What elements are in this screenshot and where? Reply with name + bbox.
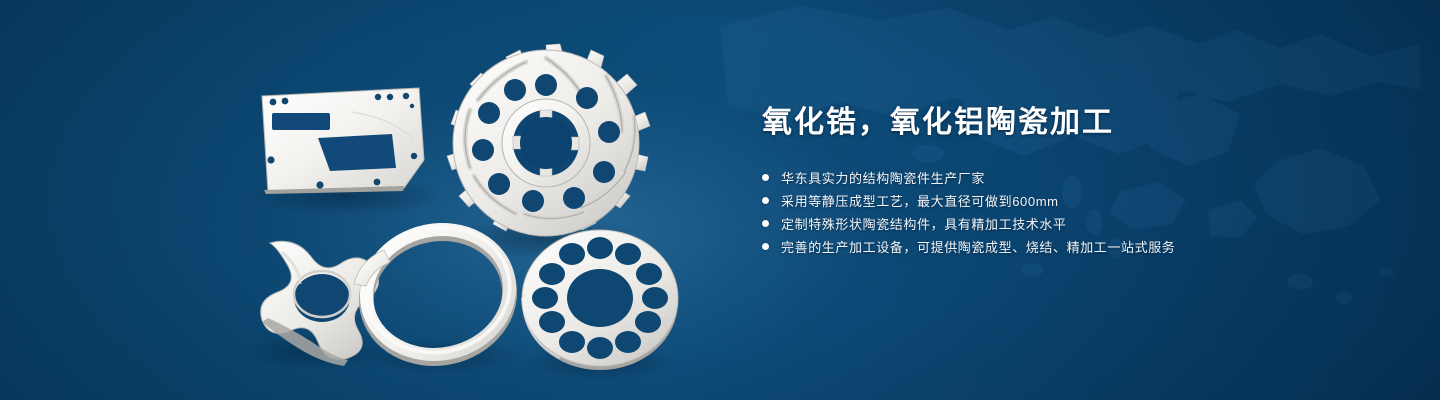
feature-text: 采用等静压成型工艺，最大直径可做到600mm xyxy=(781,191,1059,210)
ceramic-perforated-disc xyxy=(522,230,678,370)
banner-headline: 氧化锆，氧化铝陶瓷加工 xyxy=(762,104,1402,142)
feature-text: 定制特殊形状陶瓷结构件，具有精加工技术水平 xyxy=(781,214,1067,233)
bullet-dot-icon xyxy=(762,220,769,227)
banner-copy: 氧化锆，氧化铝陶瓷加工 华东具实力的结构陶瓷件生产厂家 采用等静压成型工艺，最大… xyxy=(762,104,1402,258)
list-item: 定制特殊形状陶瓷结构件，具有精加工技术水平 xyxy=(762,212,1402,235)
bullet-dot-icon xyxy=(762,197,769,204)
feature-text: 完善的生产加工设备，可提供陶瓷成型、烧结、精加工一站式服务 xyxy=(781,237,1175,256)
ceramic-products-image xyxy=(0,0,740,400)
list-item: 采用等静压成型工艺，最大直径可做到600mm xyxy=(762,189,1402,212)
bullet-dot-icon xyxy=(762,243,769,250)
ceramic-machined-plate xyxy=(262,88,424,194)
list-item: 完善的生产加工设备，可提供陶瓷成型、烧结、精加工一站式服务 xyxy=(762,235,1402,258)
ceramic-vaned-impeller xyxy=(447,44,650,236)
list-item: 华东具实力的结构陶瓷件生产厂家 xyxy=(762,166,1402,189)
bullet-dot-icon xyxy=(762,174,769,181)
feature-list: 华东具实力的结构陶瓷件生产厂家 采用等静压成型工艺，最大直径可做到600mm 定… xyxy=(762,166,1402,258)
feature-text: 华东具实力的结构陶瓷件生产厂家 xyxy=(781,168,985,187)
promo-banner: 氧化锆，氧化铝陶瓷加工 华东具实力的结构陶瓷件生产厂家 采用等静压成型工艺，最大… xyxy=(0,0,1440,400)
